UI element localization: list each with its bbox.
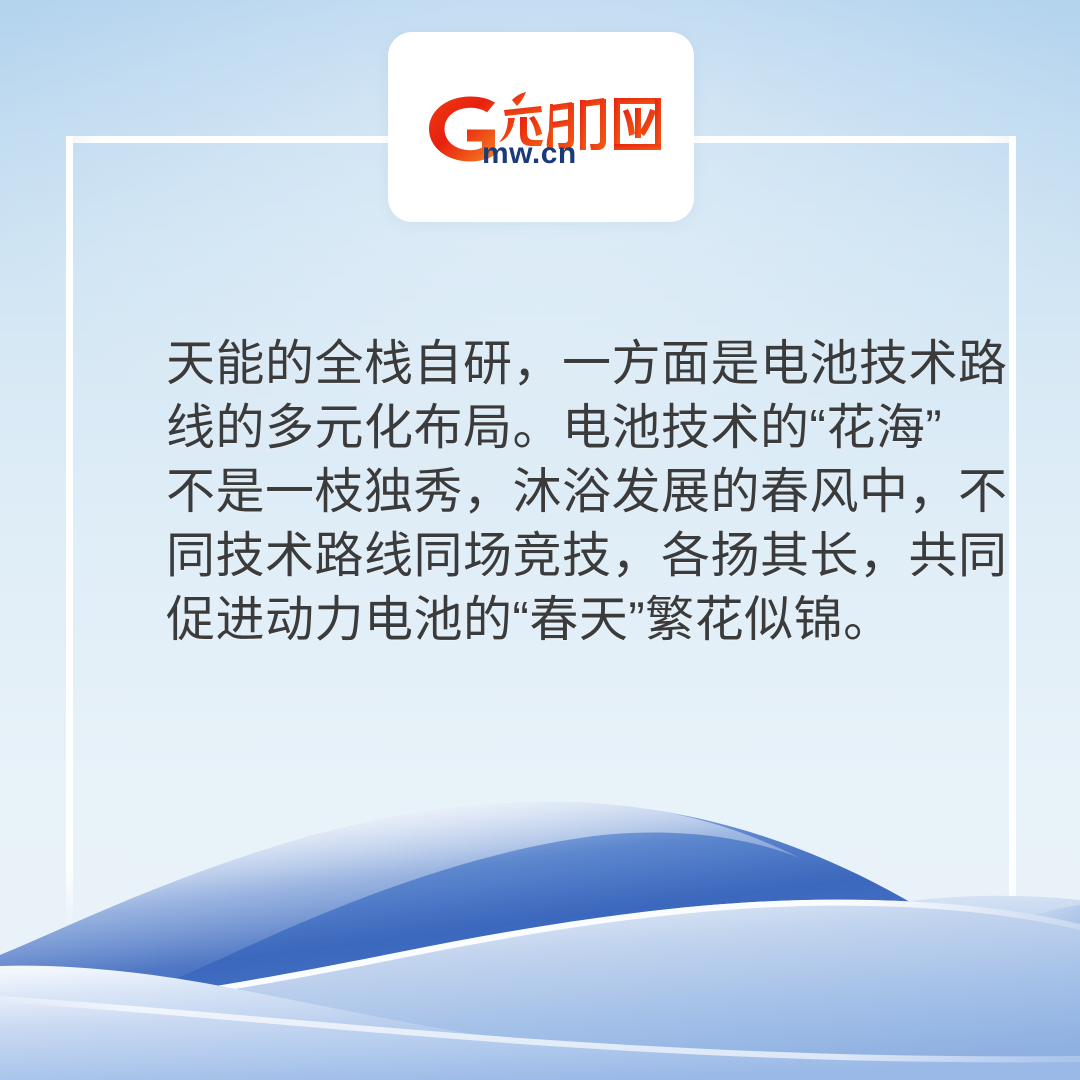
quote-line-3: 不是一枝独秀，沐浴发展的春风中，不 xyxy=(166,460,936,524)
base-dune-band xyxy=(0,996,1080,1080)
far-dune-shape xyxy=(0,896,1080,1080)
mid-band-edge-highlight xyxy=(0,900,1080,1018)
frame-edge-left xyxy=(66,136,73,926)
quote-line-2: 线的多元化布局。电池技术的“花海” xyxy=(166,396,936,460)
mid-dune-band xyxy=(0,900,1080,1080)
foreground-dune-svg xyxy=(0,750,1080,1080)
logo-domain-text: mw.cn xyxy=(482,137,577,170)
poster-canvas: mw.cn 天能的全栈自研，一方面是电池技术路 线的多元化布局。电池技术的“花海… xyxy=(0,0,1080,1080)
base-band-edge-highlight xyxy=(0,996,1080,1062)
dark-crest-wave xyxy=(0,802,1080,1080)
front-dune-band xyxy=(0,966,1080,1080)
right-crest-wave xyxy=(870,905,1080,1080)
gmw-logo: mw.cn xyxy=(416,84,666,170)
crest-highlight-sheen xyxy=(0,802,800,1038)
background-dune-svg xyxy=(0,750,1080,1080)
logo-card[interactable]: mw.cn xyxy=(388,32,694,222)
background-dune-layer xyxy=(0,750,1080,1080)
quote-line-4: 同技术路线同场竞技，各扬其长，共同 xyxy=(166,524,936,588)
frame-edge-right xyxy=(1009,136,1016,926)
quote-line-5: 促进动力电池的“春天”繁花似锦。 xyxy=(166,588,936,652)
foreground-dune-layer xyxy=(0,750,1080,1080)
quote-line-1: 天能的全栈自研，一方面是电池技术路 xyxy=(166,332,936,396)
logo-char-wang xyxy=(614,98,661,150)
quote-block: 天能的全栈自研，一方面是电池技术路 线的多元化布局。电池技术的“花海” 不是一枝… xyxy=(166,332,936,652)
gmw-logo-svg: mw.cn xyxy=(416,84,666,170)
